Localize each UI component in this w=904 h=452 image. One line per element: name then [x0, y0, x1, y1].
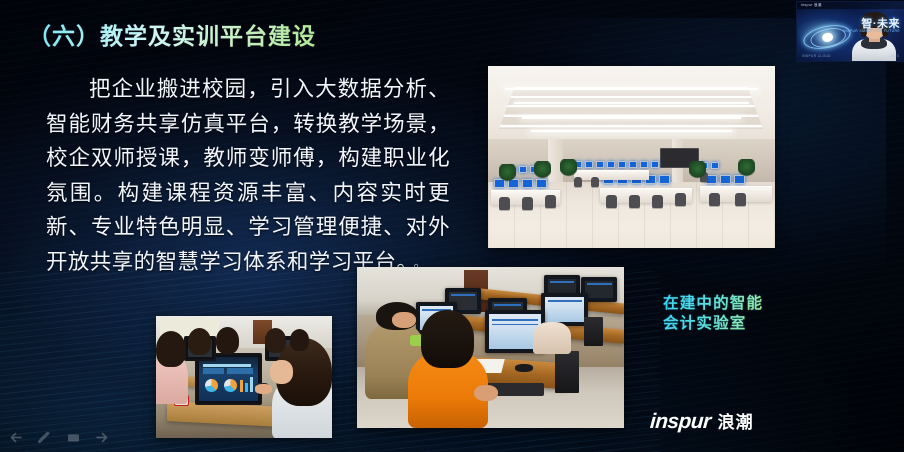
image-students-class: [156, 316, 332, 438]
previous-slide-button[interactable]: [8, 430, 23, 445]
video-watermark-bottom-right: 2023: [890, 54, 899, 58]
lab-chair: [629, 195, 640, 208]
person-background-hair: [265, 328, 286, 352]
lab-plant: [534, 161, 551, 180]
lab-chair: [522, 197, 533, 210]
person-background-hair: [290, 329, 309, 351]
lab-chair: [709, 193, 720, 206]
students-lab-scene: [357, 267, 624, 428]
pen-tool-button[interactable]: [37, 430, 52, 445]
lab-mouse: [515, 364, 534, 372]
lab-render-scene: [488, 66, 775, 248]
video-watermark-bottom-left: INSPUR CLOUD: [802, 54, 831, 58]
next-slide-button[interactable]: [95, 430, 110, 445]
dashboard-screen: [199, 357, 258, 402]
lab-chair: [735, 193, 746, 206]
presentation-controls: [8, 430, 110, 445]
students-class-scene: [156, 316, 332, 438]
lab-chair: [499, 197, 510, 210]
slide-overview-button[interactable]: [66, 430, 81, 445]
person-background-hair: [156, 331, 186, 368]
person-background-hair: [216, 327, 239, 354]
body-paragraph: 把企业搬进校园，引入大数据分析、智能财务共享仿真平台，转换教学场景，校企双师授课…: [46, 77, 450, 274]
person-student-hand: [474, 385, 498, 401]
lab-chair: [652, 195, 663, 208]
video-subtitle-text: INSPUR SMART THE FUTURE: [843, 29, 900, 33]
image-students-lab: [357, 267, 624, 428]
person-background-hair: [188, 328, 211, 355]
lab-plant: [738, 159, 755, 178]
video-watermark-top: inspur 浪潮: [801, 3, 822, 8]
ceiling-light-strip: [514, 102, 749, 104]
lab-monitor: [541, 293, 588, 326]
person-background: [533, 322, 570, 354]
ceiling-light-strip: [522, 117, 740, 119]
presenter-video-thumbnail[interactable]: inspur 浪潮 智·未来 INSPUR SMART THE FUTURE I…: [796, 1, 904, 62]
page-title: （六）教学及实训平台建设: [28, 17, 316, 51]
lab-plant: [560, 159, 577, 178]
inspur-logo: inspur 浪潮: [650, 408, 754, 434]
person-teacher-face: [392, 312, 416, 328]
ceiling-light-strip: [531, 130, 732, 132]
lab-desk: [574, 170, 649, 180]
lab-plant: [689, 161, 706, 180]
inspur-logo-cn: 浪潮: [718, 408, 754, 433]
lab-chair: [545, 195, 556, 208]
lab-chair: [606, 195, 617, 208]
inspur-logo-en: inspur: [649, 410, 711, 434]
lab-chair: [574, 177, 582, 187]
lab-pc-tower: [584, 317, 603, 346]
person-student-hand: [255, 384, 273, 394]
image-lab-render: [488, 66, 775, 248]
presentation-slide-window: （六）教学及实训平台建设 把企业搬进校园，引入大数据分析、智能财务共享仿真平台，…: [0, 0, 904, 452]
person-student-face: [270, 360, 293, 384]
lab-monitor-row-far: [574, 161, 659, 168]
lab-pc-tower: [555, 351, 579, 393]
ceiling-light-strip: [505, 88, 758, 90]
image-caption-smart-lab: 在建中的智能 会计实验室: [663, 294, 763, 334]
lab-chair: [675, 193, 686, 206]
lab-chair: [591, 177, 599, 187]
slide-body-text: 把企业搬进校园，引入大数据分析、智能财务共享仿真平台，转换教学场景，校企双师授课…: [46, 72, 450, 280]
person-student-hair: [421, 310, 474, 368]
lab-plant: [499, 164, 516, 183]
